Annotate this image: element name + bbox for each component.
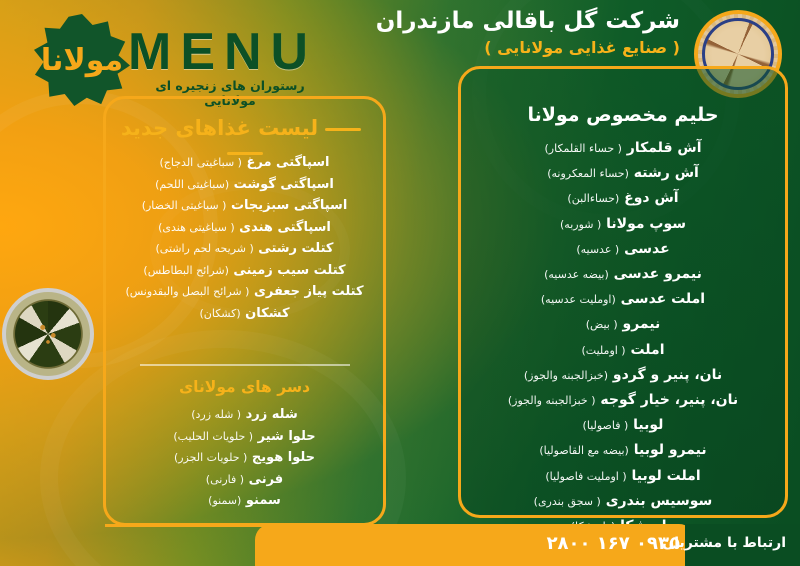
menu-item-name-ar: ( حساء القلمکار) — [544, 142, 621, 155]
menu-item-row: آش دوغ (حساءالبن) — [458, 186, 788, 211]
menu-item-row: آش قلمکار ( حساء القلمکار) — [458, 136, 788, 161]
menu-item-name-ar: ( اوملیت) — [582, 344, 626, 357]
menu-item-name-ar: ( بیض) — [586, 318, 618, 331]
menu-item-name-ar: ( سباغیتی هندی) — [158, 221, 235, 234]
menu-item-name-fa: املت لوبیا — [632, 468, 701, 484]
menu-item-name-ar: ( شوربه) — [560, 218, 601, 231]
menu-item-name-ar: ( سباغیتی الدجاج) — [160, 156, 242, 169]
menu-item-name-ar: ( اوملیت فاصولیا) — [545, 470, 626, 483]
menu-item-name-ar: (بیضه مع القاصولیا) — [539, 444, 629, 457]
menu-item-name-fa: فرنی — [249, 472, 284, 487]
menu-item-row: حلوا هویج ( حلویات الجزر) — [103, 447, 386, 469]
new-dishes-list: اسپاگتی مرغ ( سباغیتی الدجاج)اسپاگتی گوش… — [103, 152, 386, 324]
logo-calligraphy: مولانا — [34, 14, 130, 106]
menu-item-row: نیمرو ( بیض) — [458, 312, 788, 337]
menu-item-name-fa: آش رشته — [634, 165, 699, 181]
menu-item-row: نیمرو عدسی (بیضه عدسیه) — [458, 262, 788, 287]
desserts-list: شله زرد ( شله زرد)حلوا شیر ( حلویات الحل… — [103, 404, 386, 512]
menu-item-name-ar: ( فارنی) — [206, 473, 244, 486]
menu-item-row: املت لوبیا ( اوملیت فاصولیا) — [458, 464, 788, 489]
footer-rule — [105, 524, 275, 527]
menu-item-name-ar: ( عدسیه) — [576, 243, 619, 256]
menu-item-row: نان، پنیر و گردو (خبزالجبنه والجوز) — [458, 363, 788, 388]
menu-item-name-fa: نان، پنیر، خیار گوجه — [600, 392, 738, 408]
menu-item-name-fa: شله زرد — [246, 407, 298, 422]
menu-item-name-fa: حلوا شیر — [258, 429, 316, 444]
menu-item-name-ar: ( سجق بندری) — [534, 495, 601, 508]
menu-item-row: املت ( اوملیت) — [458, 338, 788, 363]
menu-item-row: اسپاگتی سبزیجات ( سباغیتی الخضار) — [103, 195, 386, 217]
menu-item-name-ar: ( حلویات الحلیب) — [173, 430, 253, 443]
menu-item-name-ar: ( شریحه لحم راشتی) — [156, 242, 254, 255]
contact-phone[interactable]: ۰۹۳۵ ۱۶۷ ۲۸۰۰ — [547, 533, 680, 554]
new-dishes-title-text: لیست غذاهای جدید — [121, 116, 318, 140]
menu-item-name-ar: (حساء المعکرونه) — [547, 167, 629, 180]
menu-item-row: اسپاگتی هندی ( سباغیتی هندی) — [103, 217, 386, 239]
menu-item-row: املت عدسی (اوملیت عدسیه) — [458, 287, 788, 312]
menu-item-name-fa: سوسیس بندری — [606, 493, 713, 509]
company-block: شرکت گل باقالی مازندران ( صنایع غذایی مو… — [376, 8, 680, 57]
menu-item-name-ar: ( خبزالجبنه والجوز) — [508, 394, 596, 407]
footer-bar: ارتباط با مشتریان ۰۹۳۵ ۱۶۷ ۲۸۰۰ — [255, 524, 800, 566]
menu-item-name-ar: ( شله زرد) — [191, 408, 241, 421]
menu-item-name-ar: (بیضه عدسیه) — [544, 268, 609, 281]
contact-label: ارتباط با مشتریان — [662, 535, 786, 551]
menu-item-row: عدسی ( عدسیه) — [458, 237, 788, 262]
menu-item-row: اسپاگتی گوشت (سباغیتی اللحم) — [103, 174, 386, 196]
menu-item-row: آش رشته (حساء المعکرونه) — [458, 161, 788, 186]
menu-item-name-fa: نیمرو لوبیا — [634, 442, 707, 458]
menu-item-name-ar: (سباغیتی اللحم) — [155, 178, 229, 191]
menu-item-name-ar: (کشکان) — [200, 307, 241, 320]
ash-bowl-photo — [2, 288, 94, 380]
menu-item-name-fa: آش قلمکار — [627, 140, 702, 156]
company-name: شرکت گل باقالی مازندران — [376, 8, 680, 34]
menu-item-name-fa: عدسی — [624, 241, 670, 257]
menu-item-row: سمنو (سمنو) — [103, 490, 386, 512]
menu-item-name-fa: نان، پنیر و گردو — [613, 367, 722, 383]
menu-item-name-fa: اسپاگتی هندی — [239, 220, 331, 235]
menu-item-name-ar: (اوملیت عدسیه) — [541, 293, 616, 306]
menu-item-row: کتلت پیاز جعفری ( شرائح البصل والبقدونس) — [103, 281, 386, 303]
menu-item-name-fa: سمنو — [246, 493, 281, 508]
menu-poster: مولانا MENU رستوران های زنجیره ای مولانا… — [0, 0, 800, 566]
company-subtitle: ( صنایع غذایی مولانایی ) — [376, 38, 680, 57]
menu-item-row: فرنی ( فارنی) — [103, 469, 386, 491]
bowl-garnish — [736, 52, 748, 64]
menu-item-name-fa: کتلت رشتی — [258, 241, 333, 256]
brand-logo: مولانا — [34, 14, 130, 106]
menu-item-name-ar: (خبزالجبنه والجوز) — [524, 369, 608, 382]
menu-item-name-ar: (حساءالبن) — [567, 192, 619, 205]
menu-item-name-ar: ( حلویات الجزر) — [174, 451, 247, 464]
menu-item-name-ar: ( شرائح البصل والبقدونس) — [125, 285, 249, 298]
menu-item-row: نان، پنیر، خیار گوجه ( خبزالجبنه والجوز) — [458, 388, 788, 413]
menu-item-name-fa: املت عدسی — [621, 291, 705, 307]
menu-item-row: نیمرو لوبیا (بیضه مع القاصولیا) — [458, 438, 788, 463]
menu-item-name-fa: اسپاگتی سبزیجات — [231, 198, 347, 213]
menu-item-name-fa: حلوا هویج — [252, 450, 315, 465]
menu-item-name-fa: نیمرو — [623, 316, 661, 332]
menu-item-name-fa: سوپ مولانا — [606, 216, 686, 232]
menu-item-name-ar: ( فاصولیا) — [583, 419, 629, 432]
menu-word: MENU — [128, 22, 317, 82]
menu-item-name-ar: (شرائح البطاطس) — [143, 264, 228, 277]
menu-item-row: کشکان (کشکان) — [103, 303, 386, 325]
menu-item-row: لوبیا ( فاصولیا) — [458, 413, 788, 438]
haleem-title: حلیم مخصوص مولانا — [458, 104, 788, 126]
section-divider — [140, 364, 350, 366]
menu-item-name-fa: اسپاگتی گوشت — [234, 177, 334, 192]
menu-item-name-ar: ( سباغیتی الخضار) — [142, 199, 227, 212]
menu-item-name-fa: آش دوغ — [624, 190, 678, 206]
menu-item-row: حلوا شیر ( حلویات الحلیب) — [103, 426, 386, 448]
menu-item-name-fa: اسپاگتی مرغ — [247, 155, 330, 170]
desserts-title: دسر های مولانای — [103, 378, 386, 396]
menu-item-name-fa: کشکان — [245, 306, 289, 321]
menu-item-name-fa: کتلت سیب زمینی — [233, 263, 345, 278]
menu-item-name-fa: لوبیا — [633, 417, 663, 433]
menu-item-row: سوپ مولانا ( شوربه) — [458, 212, 788, 237]
menu-item-name-fa: کتلت پیاز جعفری — [254, 284, 364, 299]
menu-item-row: اسپاگتی مرغ ( سباغیتی الدجاج) — [103, 152, 386, 174]
menu-item-row: کتلت سیب زمینی (شرائح البطاطس) — [103, 260, 386, 282]
menu-item-name-fa: نیمرو عدسی — [614, 266, 702, 282]
menu-item-row: شله زرد ( شله زرد) — [103, 404, 386, 426]
title-rule-left — [325, 128, 361, 131]
haleem-items-list: آش قلمکار ( حساء القلمکار)آش رشته (حساء … — [458, 136, 788, 539]
menu-item-row: کتلت رشتی ( شریحه لحم راشتی) — [103, 238, 386, 260]
menu-item-name-fa: املت — [630, 342, 664, 358]
menu-item-name-ar: (سمنو) — [208, 494, 241, 507]
menu-item-row: سوسیس بندری ( سجق بندری) — [458, 489, 788, 514]
